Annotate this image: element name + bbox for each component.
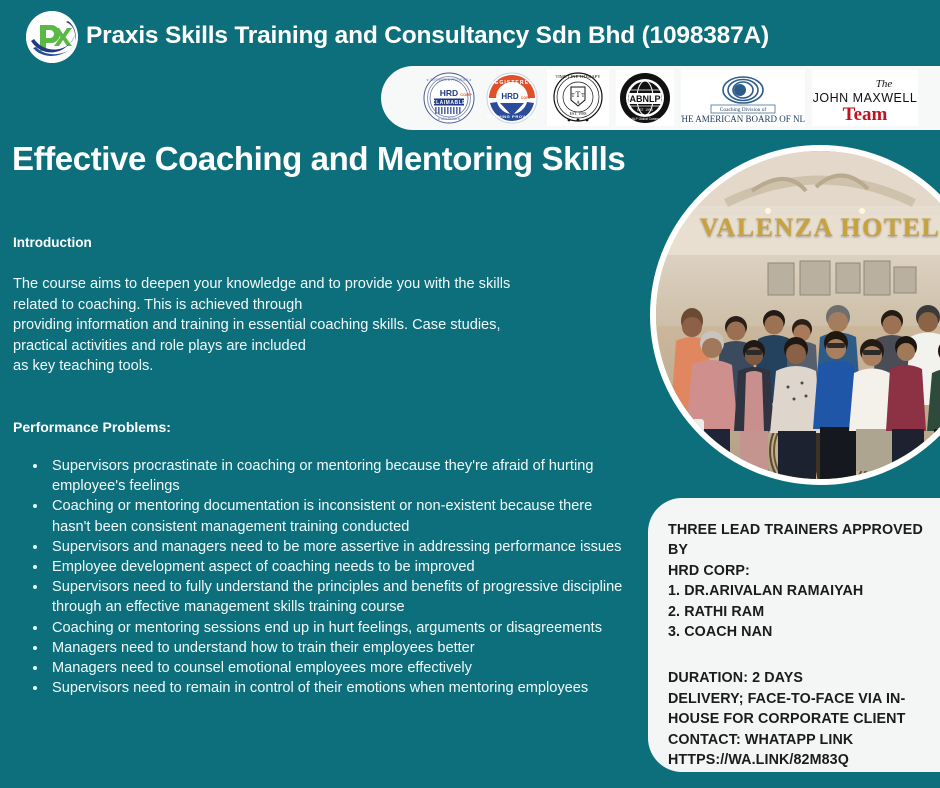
company-title: Praxis Skills Training and Consultancy S… bbox=[86, 22, 769, 50]
svg-text:HRD: HRD bbox=[440, 88, 458, 98]
svg-text:TIME LINE THERAPY: TIME LINE THERAPY bbox=[555, 74, 601, 79]
list-item: Supervisors need to fully understand the… bbox=[18, 577, 626, 617]
list-item: Supervisors and managers need to be more… bbox=[18, 537, 626, 557]
list-item: Employee development aspect of coaching … bbox=[18, 557, 626, 577]
svg-text:Coaching Division of: Coaching Division of bbox=[720, 106, 767, 113]
svg-text:Team: Team bbox=[843, 104, 888, 125]
svg-text:T: T bbox=[576, 90, 581, 99]
john-maxwell-team-badge: The JOHN MAXWELL Team bbox=[812, 70, 918, 126]
trainers-block: THREE LEAD TRAINERS APPROVED BY HRD CORP… bbox=[668, 520, 926, 642]
hrd-corp-claimable-badge: HRD CORP CLAIMABLE ★ CERTIFIED ★ PROVIDE… bbox=[421, 71, 477, 125]
contact-line: CONTACT: WHATAPP LINK bbox=[668, 730, 926, 750]
certification-badge-strip: HRD CORP CLAIMABLE ★ CERTIFIED ★ PROVIDE… bbox=[381, 66, 940, 130]
svg-text:★ CERTIFIED ★ PROVIDER ★: ★ CERTIFIED ★ PROVIDER ★ bbox=[426, 78, 472, 82]
trainer-1: 1. DR.ARIVALAN RAMAIYAH bbox=[668, 581, 926, 601]
svg-text:CORP: CORP bbox=[460, 92, 472, 97]
trainers-heading-line-1: THREE LEAD TRAINERS APPROVED BY bbox=[668, 520, 926, 561]
svg-text:EST. 1995: EST. 1995 bbox=[637, 108, 653, 112]
svg-text:A: A bbox=[576, 101, 580, 106]
svg-text:TRAINING PROVIDER: TRAINING PROVIDER bbox=[486, 114, 538, 119]
duration-line: DURATION: 2 DAYS bbox=[668, 668, 926, 688]
svg-text:CLAIMABLE: CLAIMABLE bbox=[432, 100, 466, 106]
svg-text:EST. 1988: EST. 1988 bbox=[570, 111, 587, 116]
header-bar: Praxis Skills Training and Consultancy S… bbox=[0, 0, 940, 72]
list-item: Coaching or mentoring documentation is i… bbox=[18, 496, 626, 536]
logistics-block: DURATION: 2 DAYS DELIVERY; FACE-TO-FACE … bbox=[668, 668, 926, 770]
svg-text:THE AMERICAN BOARD OF NLP: THE AMERICAN BOARD OF NLP bbox=[681, 114, 805, 124]
intro-body-text: The course aims to deepen your knowledge… bbox=[13, 274, 613, 377]
trainers-heading-line-2: HRD CORP: bbox=[668, 561, 926, 581]
performance-problems-label: Performance Problems: bbox=[13, 419, 171, 435]
list-item: Supervisors procrastinate in coaching or… bbox=[18, 456, 626, 496]
list-item: Managers need to understand how to train… bbox=[18, 638, 626, 658]
svg-text:T: T bbox=[571, 93, 575, 99]
svg-text:T: T bbox=[581, 93, 585, 99]
american-board-of-nlp-badge: Coaching Division of THE AMERICAN BOARD … bbox=[681, 70, 805, 126]
svg-text:★ MALAYSIA ★: ★ MALAYSIA ★ bbox=[437, 117, 460, 121]
svg-text:CORP: CORP bbox=[521, 96, 532, 100]
whatsapp-link[interactable]: HTTPS://WA.LINK/82M83Q bbox=[668, 750, 926, 770]
page-title: Effective Coaching and Mentoring Skills bbox=[12, 134, 632, 184]
list-item: Supervisors need to remain in control of… bbox=[18, 678, 626, 698]
list-item: Coaching or mentoring sessions end up in… bbox=[18, 618, 626, 638]
time-line-therapy-association-badge: T T T A TIME LINE THERAPY EST. 1988 bbox=[547, 70, 609, 126]
delivery-line-2: HOUSE FOR CORPORATE CLIENT bbox=[668, 709, 926, 729]
svg-text:HRD: HRD bbox=[501, 92, 519, 101]
photo-caption: VALENZA HOTEL bbox=[656, 213, 940, 243]
svg-text:The: The bbox=[876, 78, 893, 90]
trainer-2: 2. RATHI RAM bbox=[668, 602, 926, 622]
abnlp-badge: ABNLP EST. 1995 The NLP Global Community bbox=[616, 70, 674, 126]
delivery-line-1: DELIVERY; FACE-TO-FACE VIA IN- bbox=[668, 689, 926, 709]
svg-text:JOHN MAXWELL: JOHN MAXWELL bbox=[813, 91, 918, 105]
trainer-3: 3. COACH NAN bbox=[668, 622, 926, 642]
intro-label: Introduction bbox=[13, 235, 92, 250]
poster-root: Praxis Skills Training and Consultancy S… bbox=[0, 0, 940, 788]
svg-text:The NLP Global Community: The NLP Global Community bbox=[625, 117, 665, 121]
group-training-photo: VALENZA HOTEL bbox=[650, 145, 940, 485]
svg-text:REGISTERED: REGISTERED bbox=[490, 80, 534, 86]
svg-text:ABNLP: ABNLP bbox=[630, 94, 661, 104]
course-info-card: THREE LEAD TRAINERS APPROVED BY HRD CORP… bbox=[648, 498, 940, 772]
hrd-corp-registered-training-provider-badge: REGISTERED HRD CORP TRAINING PROVIDER bbox=[484, 71, 540, 125]
performance-problems-list: Supervisors procrastinate in coaching or… bbox=[18, 456, 626, 698]
list-item: Managers need to counsel emotional emplo… bbox=[18, 658, 626, 678]
praxis-px-logo bbox=[26, 11, 78, 63]
